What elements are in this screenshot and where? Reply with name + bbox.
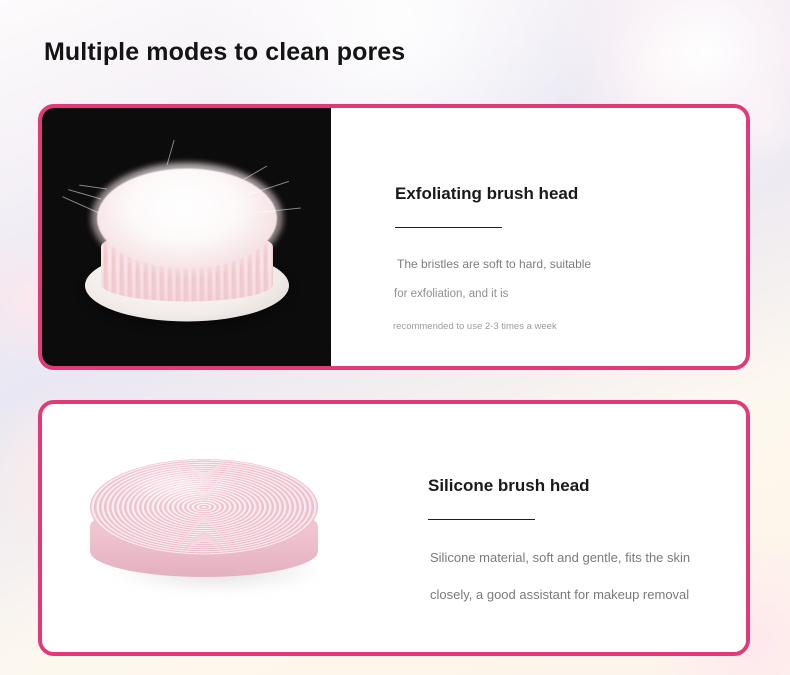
description-line: closely, a good assistant for makeup rem… [430, 587, 689, 602]
stray-bristle [166, 140, 174, 165]
exfoliating-brush-illustration [71, 155, 303, 330]
silicone-card-body: Silicone brush head Silicone material, s… [372, 404, 746, 652]
stray-bristle [68, 189, 101, 199]
description-line: recommended to use 2-3 times a week [393, 321, 557, 332]
page-title: Multiple modes to clean pores [44, 38, 405, 67]
card-heading-silicone: Silicone brush head [428, 476, 590, 496]
silicone-highlight [116, 465, 236, 505]
heading-divider [395, 227, 502, 228]
product-card-exfoliating: Exfoliating brush head The bristles are … [38, 104, 750, 370]
description-line: Silicone material, soft and gentle, fits… [430, 550, 690, 565]
exfoliating-brush-photo [42, 108, 331, 366]
card-heading-exfoliating: Exfoliating brush head [395, 184, 578, 204]
silicone-brush-photo [42, 404, 372, 652]
stray-bristle [79, 185, 107, 190]
exfoliating-card-body: Exfoliating brush head The bristles are … [331, 108, 746, 366]
description-line: The bristles are soft to hard, suitable [397, 257, 591, 271]
silicone-brush-illustration [82, 453, 332, 603]
heading-divider [428, 519, 535, 520]
product-card-silicone: Silicone brush head Silicone material, s… [38, 400, 750, 656]
description-line: for exfoliation, and it is [394, 288, 508, 300]
brush-bristle-top [97, 169, 277, 269]
